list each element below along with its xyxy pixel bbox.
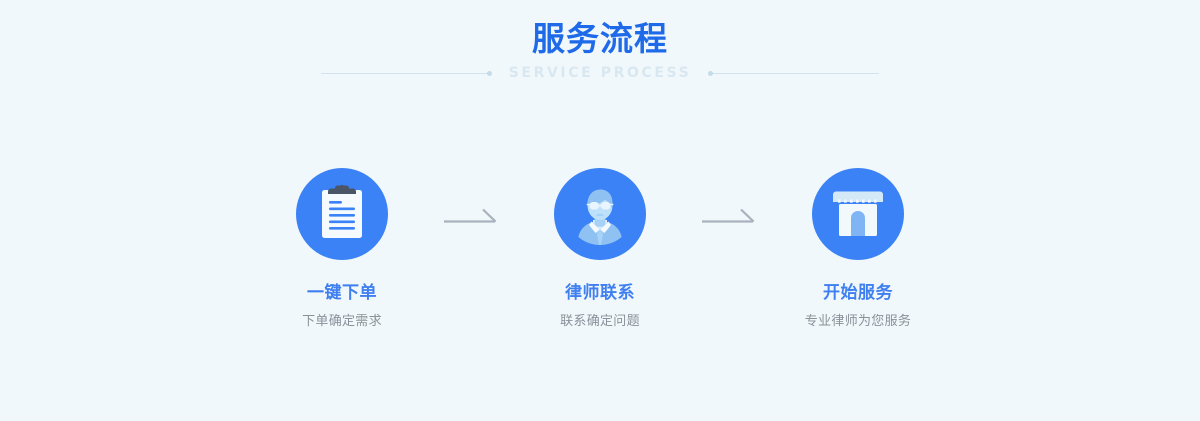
- step-2-icon-circle: [554, 168, 646, 260]
- step-1-description: 下单确定需求: [302, 313, 382, 331]
- arrow-right-icon: [701, 206, 757, 233]
- clipboard-icon: [315, 183, 369, 246]
- step-1-title: 一键下单: [307, 282, 377, 304]
- page-title: 服务流程: [0, 18, 1200, 60]
- arrow-right-icon: [443, 206, 499, 233]
- connector-arrow-1: [430, 206, 512, 233]
- service-process-section: 服务流程 SERVICE PROCESS: [0, 0, 1200, 421]
- process-step-2[interactable]: 律师联系 联系确定问题: [512, 168, 688, 331]
- step-2-title: 律师联系: [565, 282, 635, 304]
- step-3-icon-circle: [812, 168, 904, 260]
- page-subtitle: SERVICE PROCESS: [491, 63, 710, 83]
- divider-line-right: [709, 73, 879, 74]
- divider-dot-right: [708, 71, 713, 76]
- step-1-icon-circle: [296, 168, 388, 260]
- step-2-description: 联系确定问题: [560, 313, 640, 331]
- step-3-title: 开始服务: [823, 282, 893, 304]
- process-step-3[interactable]: 开始服务 专业律师为您服务: [770, 168, 946, 331]
- connector-arrow-2: [688, 206, 770, 233]
- subtitle-row: SERVICE PROCESS: [0, 63, 1200, 83]
- process-steps: 一键下单 下单确定需求: [0, 168, 1200, 331]
- section-header: 服务流程 SERVICE PROCESS: [0, 18, 1200, 83]
- divider-dot-left: [487, 71, 492, 76]
- step-3-description: 专业律师为您服务: [805, 313, 911, 331]
- lawyer-avatar-icon: [567, 179, 633, 250]
- process-step-1[interactable]: 一键下单 下单确定需求: [254, 168, 430, 331]
- divider-line-left: [321, 73, 491, 74]
- storefront-icon: [830, 185, 886, 244]
